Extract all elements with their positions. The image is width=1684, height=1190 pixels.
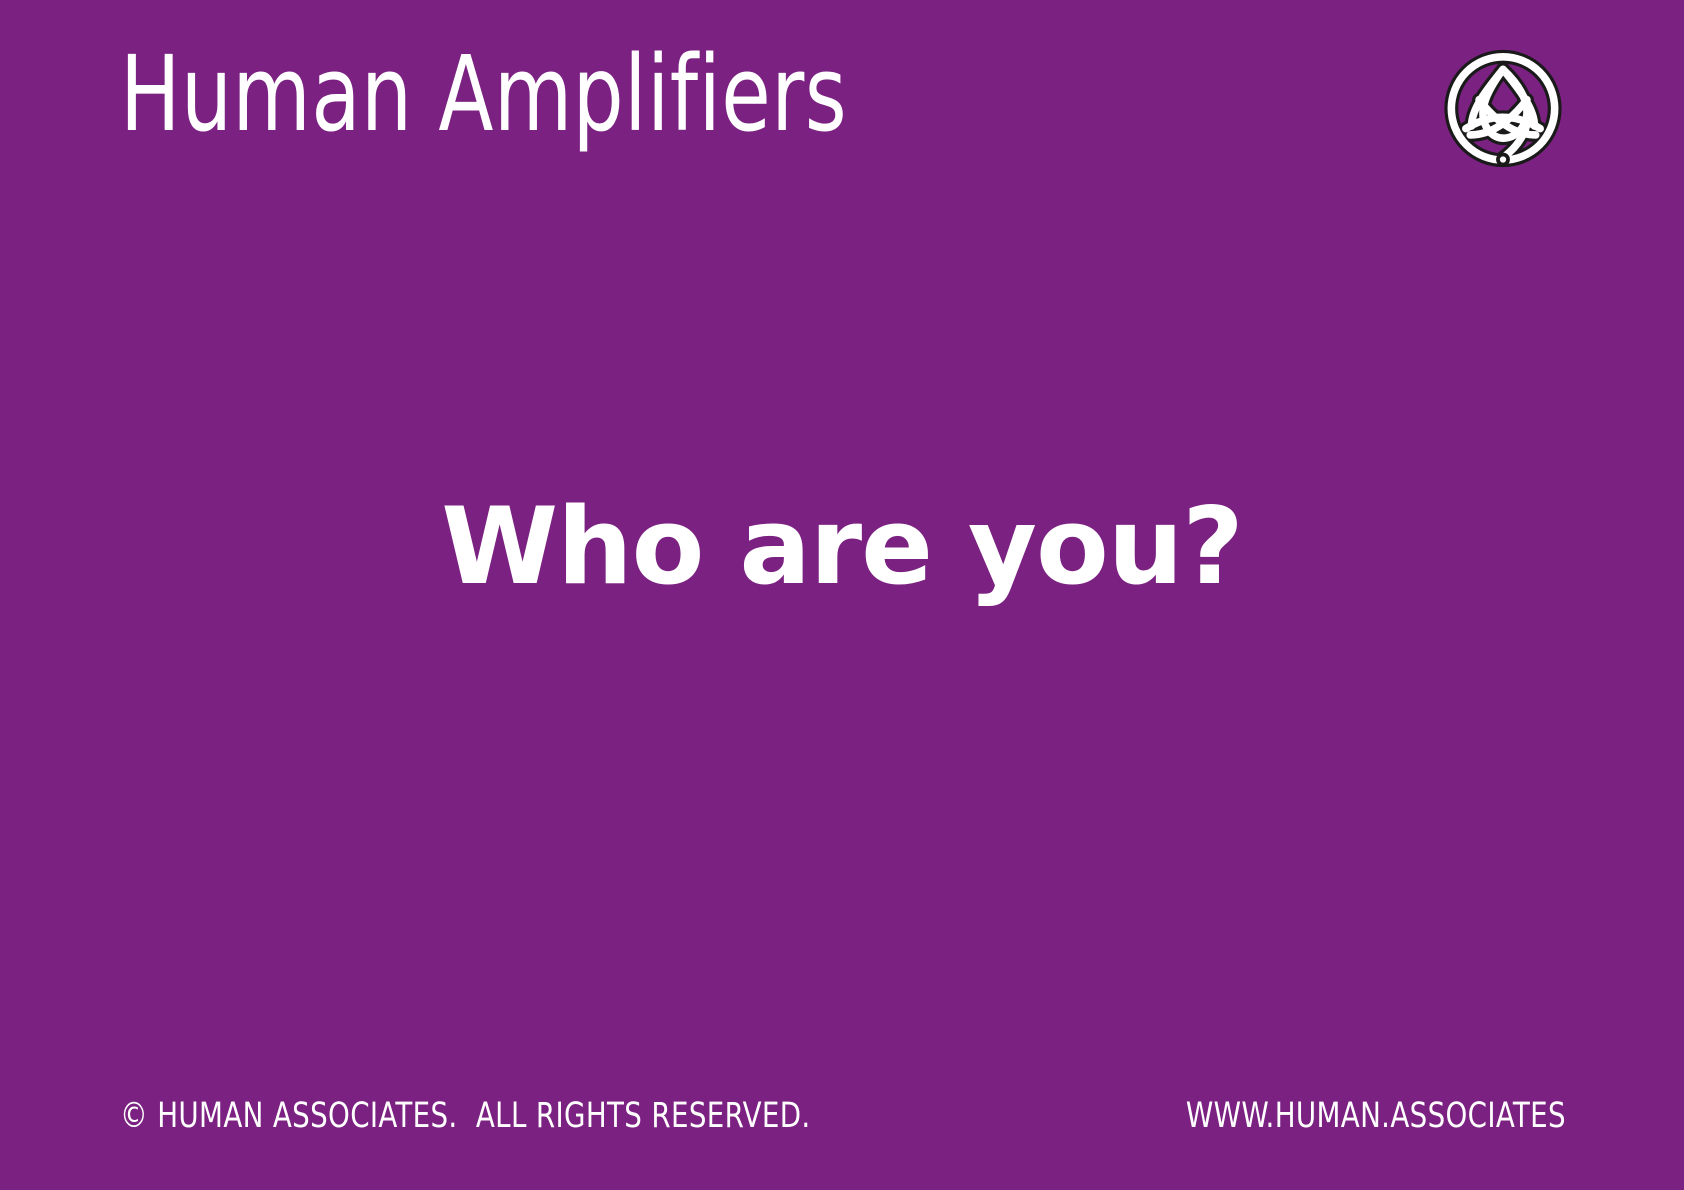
celtic-knot-icon: [1440, 48, 1566, 174]
website-url: WWW.HUMAN.ASSOCIATES: [1186, 1099, 1566, 1134]
main-headline: Who are you?: [441, 494, 1243, 600]
headline-container: Who are you?: [0, 0, 1684, 1190]
slide-canvas: Human Amplifiers: [0, 0, 1684, 1190]
page-title: Human Amplifiers: [120, 38, 847, 150]
knot-stem-dot-inner: [1500, 156, 1506, 162]
celtic-triquetra-knot-logo: [1440, 48, 1566, 174]
copyright-notice: © HUMAN ASSOCIATES. ALL RIGHTS RESERVED.: [120, 1099, 811, 1134]
